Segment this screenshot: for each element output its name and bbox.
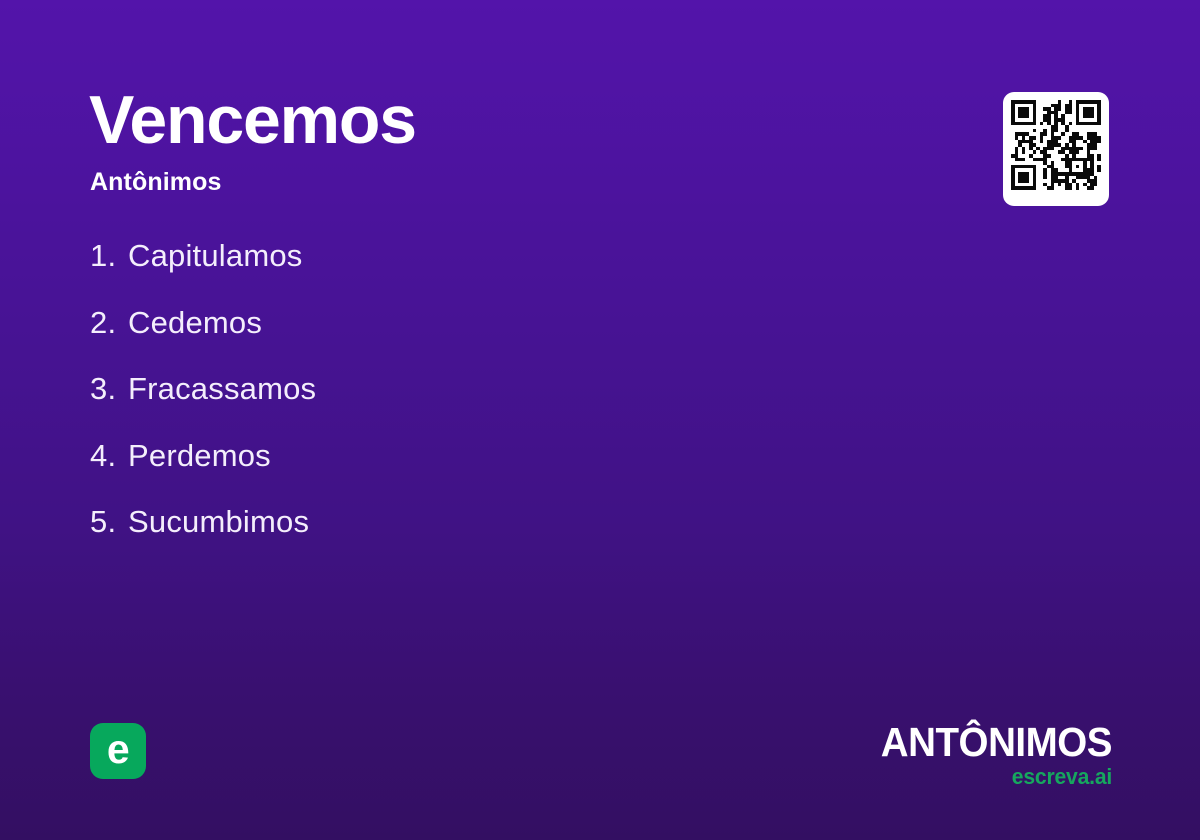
list-item: 3. Fracassamos (90, 371, 810, 438)
list-item-word: Sucumbimos (128, 504, 309, 540)
antonym-list: 1. Capitulamos 2. Cedemos 3. Fracassamos… (90, 238, 810, 571)
qr-code[interactable] (1003, 92, 1109, 206)
list-item: 1. Capitulamos (90, 238, 810, 305)
page-subtitle: Antônimos (90, 170, 221, 195)
list-item-index: 3. (90, 371, 128, 407)
list-item: 2. Cedemos (90, 305, 810, 372)
brand-wordmark-main: ANTÔNIMOS (881, 722, 1112, 763)
brand-wordmark: ANTÔNIMOS escreva.ai (866, 722, 1112, 788)
list-item: 5. Sucumbimos (90, 504, 810, 571)
escreva-logo-letter: e (107, 729, 129, 770)
list-item-word: Perdemos (128, 438, 271, 474)
page-title: Vencemos (89, 86, 416, 154)
antonyms-card: Vencemos Antônimos 1. Capitulamos 2. Ced… (0, 0, 1200, 840)
list-item: 4. Perdemos (90, 438, 810, 505)
list-item-word: Fracassamos (128, 371, 316, 407)
list-item-index: 5. (90, 504, 128, 540)
list-item-index: 1. (90, 238, 128, 274)
list-item-index: 2. (90, 305, 128, 341)
brand-wordmark-sub: escreva.ai (876, 766, 1112, 788)
list-item-index: 4. (90, 438, 128, 474)
list-item-word: Cedemos (128, 305, 262, 341)
list-item-word: Capitulamos (128, 238, 303, 274)
qr-code-icon (1011, 100, 1101, 190)
escreva-logo-icon[interactable]: e (90, 723, 146, 779)
